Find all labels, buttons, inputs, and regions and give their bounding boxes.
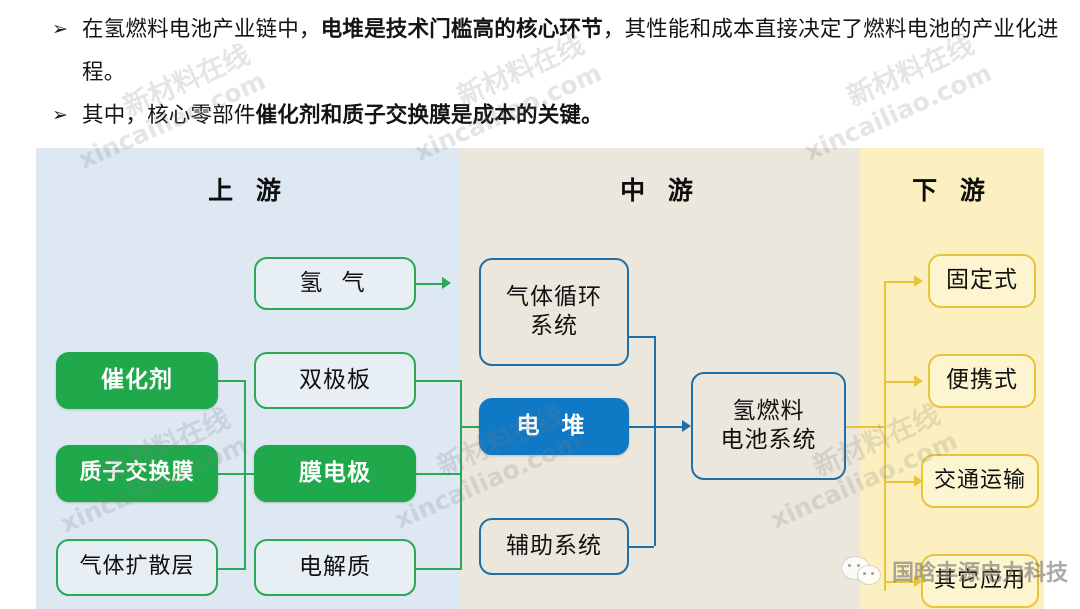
connector-to-portable [884,381,916,383]
connector-aux-out [629,546,654,548]
node-stationary[interactable]: 固定式 [928,254,1036,308]
node-gas-circulation-system[interactable]: 气体循环 系统 [479,258,629,366]
industry-chain-diagram: 上 游 中 游 下 游 催化剂 质子交换膜 气体扩散层 氢 气 双极板 膜电极 … [36,148,1044,609]
bullet-item-1-text: 在氢燃料电池产业链中，电堆是技术门槛高的核心环节，其性能和成本直接决定了燃料电池… [82,8,1062,94]
node-mea-label: 膜电极 [299,459,371,488]
node-gas-circulation-line2: 系统 [530,312,578,341]
bullet-arrow-icon: ➢ [52,8,82,51]
node-auxiliary-system[interactable]: 辅助系统 [479,518,629,575]
connector-hydrogen-out [416,283,444,285]
bullet-item-2: ➢ 其中，核心零部件催化剂和质子交换膜是成本的关键。 [52,94,1062,137]
bullet-1-seg-2-bold: 电堆是技术门槛高的核心环节 [321,17,603,42]
connector-catalyst-out [218,380,244,382]
arrow-to-stationary [914,275,923,287]
node-electrolyte-label: 电解质 [299,553,371,582]
node-transportation[interactable]: 交通运输 [921,454,1039,508]
node-stack-label: 电 堆 [516,412,591,441]
node-bipolar-plate-label: 双极板 [299,366,371,395]
arrow-to-portable [914,375,923,387]
connector-to-transport [884,481,916,483]
connector-to-other [884,581,916,583]
band-title-downstream: 下 游 [860,174,1044,208]
node-fuel-cell-stack[interactable]: 电 堆 [479,398,629,455]
connector-gasdiffusion-out [218,568,244,570]
node-aux-label: 辅助系统 [506,532,602,561]
node-hydrogen-label: 氢 气 [299,269,370,298]
connector-fuelcell-to-downstream [846,426,884,428]
bullet-arrow-icon: ➢ [52,94,82,137]
node-bipolar-plate[interactable]: 双极板 [254,352,416,409]
connector-electrolyte-out [416,568,460,570]
connector-bus-to-fuelcell [654,426,684,428]
node-stationary-label: 固定式 [946,266,1018,295]
node-proton-exchange-membrane[interactable]: 质子交换膜 [56,445,218,502]
connector-bipolar-out [416,380,460,382]
node-hydrogen[interactable]: 氢 气 [254,257,416,310]
band-title-upstream: 上 游 [36,174,460,208]
node-gas-diffusion-layer[interactable]: 气体扩散层 [56,539,218,596]
node-catalyst-label: 催化剂 [101,366,173,395]
node-other-apps-label: 其它应用 [934,567,1026,595]
connector-stack-out [629,426,654,428]
bullet-item-1: ➢ 在氢燃料电池产业链中，电堆是技术门槛高的核心环节，其性能和成本直接决定了燃料… [52,8,1062,94]
connector-upstream-col1-bus [244,380,246,570]
node-fuelcell-line1: 氢燃料 [733,397,805,426]
node-hydrogen-fuel-cell-system[interactable]: 氢燃料 电池系统 [691,372,846,480]
connector-pem-out [218,473,244,475]
band-title-midstream: 中 游 [460,174,860,208]
connector-upstream-col2-bus [460,380,462,570]
node-gas-circulation-line1: 气体循环 [506,283,602,312]
bullet-text-block: ➢ 在氢燃料电池产业链中，电堆是技术门槛高的核心环节，其性能和成本直接决定了燃料… [0,0,1080,148]
bullet-1-seg-1: 在氢燃料电池产业链中， [82,17,321,42]
node-electrolyte[interactable]: 电解质 [254,539,416,596]
node-other-applications[interactable]: 其它应用 [921,554,1039,608]
node-pem-label: 质子交换膜 [79,459,194,487]
node-portable[interactable]: 便携式 [928,354,1036,408]
connector-midstream-bus [654,336,656,546]
node-transport-label: 交通运输 [934,467,1026,495]
connector-downstream-bus [884,281,886,591]
arrow-midstream-to-fuelcell [682,420,691,432]
bullet-2-seg-1: 其中，核心零部件 [82,103,256,128]
node-catalyst[interactable]: 催化剂 [56,352,218,409]
node-gas-diffusion-label: 气体扩散层 [79,553,194,581]
node-portable-label: 便携式 [946,366,1018,395]
bullet-item-2-text: 其中，核心零部件催化剂和质子交换膜是成本的关键。 [82,94,1062,137]
arrow-hydrogen-to-gascycle [442,277,451,289]
connector-gascycle-out [629,336,654,338]
bullet-2-seg-2-bold: 催化剂和质子交换膜是成本的关键。 [256,103,603,128]
node-fuelcell-line2: 电池系统 [721,426,817,455]
node-membrane-electrode-assembly[interactable]: 膜电极 [254,445,416,502]
connector-to-stationary [884,281,916,283]
connector-mea-out [416,473,460,475]
